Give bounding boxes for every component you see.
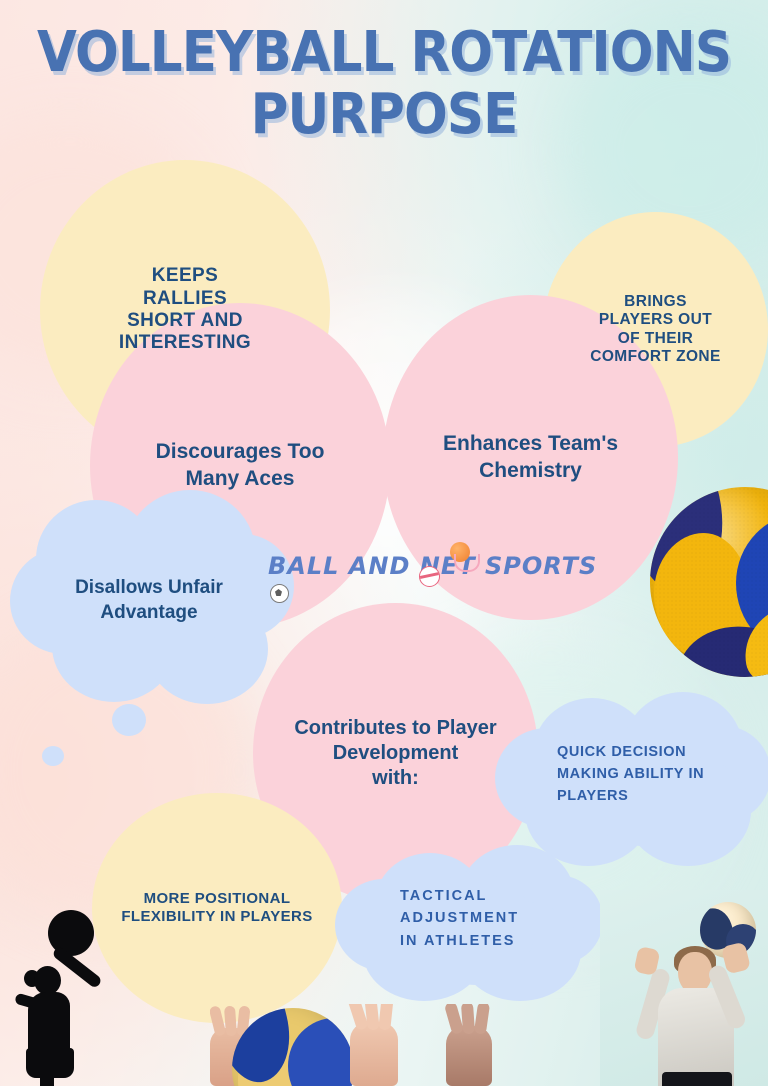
player-shorts [662, 1072, 732, 1086]
bubble-tactical-adjustment-label: TACTICAL ADJUSTMENT IN ATHLETES [400, 885, 590, 952]
player-spiking-silhouette [8, 908, 128, 1086]
hands-blocking-volleyball-photo [210, 1004, 540, 1086]
bubble-unfair-advantage-label: Disallows Unfair Advantage [34, 576, 264, 625]
volleyball-texture [650, 487, 768, 677]
bubble-unfair-advantage: Disallows Unfair Advantage [6, 490, 296, 725]
page-title: VOLLEYBALL ROTATIONS PURPOSE [0, 26, 768, 142]
young-player-setting-photo [600, 890, 768, 1086]
volleyball-photo-yellow-blue [650, 487, 768, 677]
bubble-quick-decision-label: QUICK DECISION MAKING ABILITY IN PLAYERS [557, 742, 757, 807]
watermark-text: BALL AND NET SPORTS [268, 552, 528, 580]
volleyball-ball [232, 1008, 354, 1086]
bubble-keeps-rallies-label: KEEPS RALLIES SHORT AND INTERESTING [119, 265, 251, 355]
blocking-hand [446, 1026, 492, 1086]
hoop-icon [454, 554, 480, 572]
bubble-discourages-aces-label: Discourages Too Many Aces [156, 439, 325, 492]
title-line-1: VOLLEYBALL ROTATIONS [31, 26, 738, 80]
silhouette-leg [40, 1074, 54, 1086]
blocking-hand [350, 1022, 398, 1086]
title-line-2: PURPOSE [31, 88, 738, 142]
bubble-team-chemistry-label: Enhances Team's Chemistry [443, 431, 618, 484]
watermark-logo: BALL AND NET SPORTS [268, 552, 528, 602]
silhouette-head [34, 966, 61, 995]
bubble-tactical-adjustment: TACTICAL ADJUSTMENT IN ATHLETES [335, 845, 607, 1005]
bubble-positional-flexibility-label: MORE POSITIONAL FLEXIBILITY IN PLAYERS [121, 890, 312, 925]
infographic-poster: VOLLEYBALL ROTATIONS PURPOSE KEEPS RALLI… [0, 0, 768, 1086]
bubble-positional-flexibility: MORE POSITIONAL FLEXIBILITY IN PLAYERS [92, 793, 342, 1023]
bubble-player-development-label: Contributes to Player Development with: [294, 716, 496, 791]
bubble-comfort-zone-label: BRINGS PLAYERS OUT OF THEIR COMFORT ZONE [590, 293, 721, 366]
soccer-ball-icon [270, 584, 289, 603]
volleyball-icon [419, 566, 440, 587]
